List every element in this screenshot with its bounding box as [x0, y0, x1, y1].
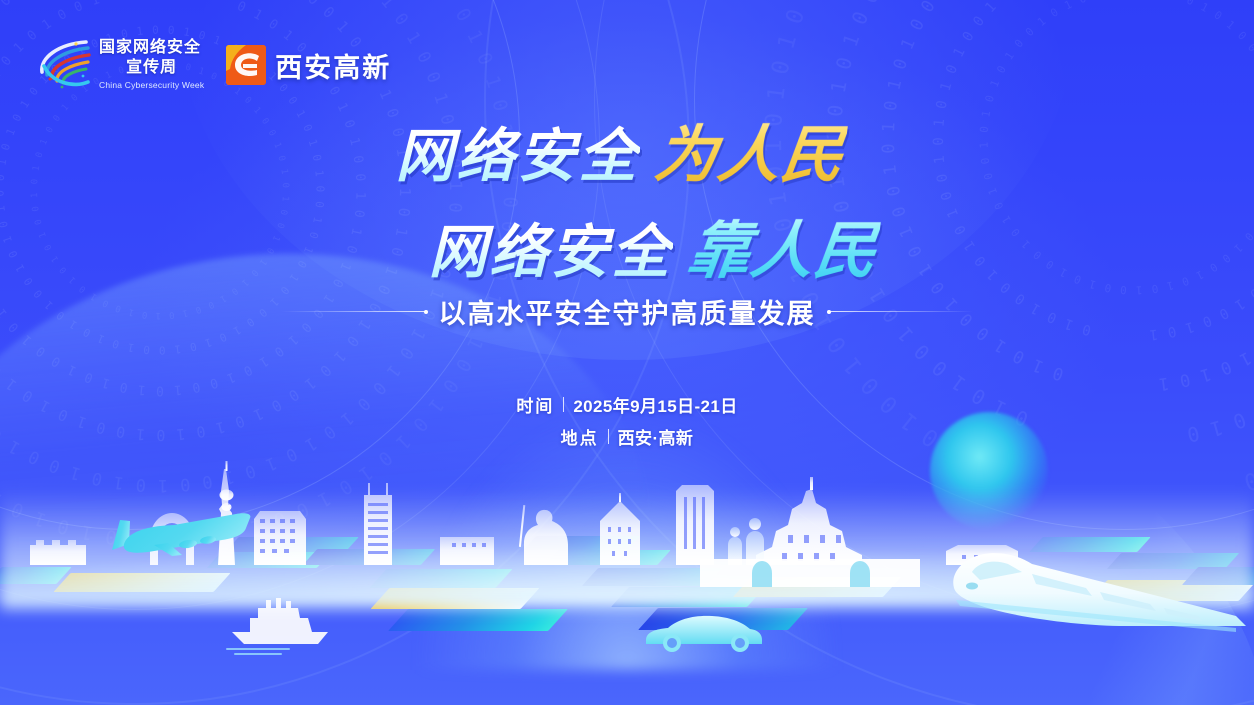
people-figures [728, 518, 764, 565]
subtitle-row: 以高水平安全守护高质量发展 [0, 292, 1254, 331]
time-value: 2025年9月15日-21日 [573, 392, 737, 417]
time-label: 时间 [516, 392, 554, 417]
meta-separator [563, 397, 564, 412]
high-speed-train-icon [936, 530, 1254, 645]
title-line2-white: 网络安全 [428, 205, 672, 289]
event-place-row: 地点 西安·高新 [0, 424, 1254, 449]
airplane-icon [96, 498, 261, 573]
title-line-1: 网络安全 为人民 [0, 104, 1254, 194]
place-label: 地点 [561, 424, 599, 449]
subtitle-rule-left [282, 311, 427, 312]
title-line1-white: 网络安全 [395, 109, 639, 193]
swoosh-ribbon-icon [36, 36, 92, 94]
title-line1-accent: 为人民 [650, 104, 850, 194]
cruise-ship-icon [222, 592, 362, 663]
meta-separator [608, 429, 609, 444]
car-icon [638, 608, 768, 659]
main-title-block: 网络安全 为人民 网络安全 靠人民 [0, 104, 1254, 290]
title-line2-accent: 靠人民 [683, 200, 883, 290]
header-logos: 国家网络安全 宣传周 China Cybersecurity Week 西安高新 [36, 36, 391, 94]
place-value: 西安·高新 [618, 424, 694, 449]
subtitle-rule-right [828, 311, 973, 312]
xian-hitech-name: 西安高新 [275, 46, 391, 85]
event-meta: 时间 2025年9月15日-21日 地点 西安·高新 [0, 392, 1254, 456]
xian-hitech-logo[interactable]: 西安高新 [226, 45, 391, 85]
subtitle-text: 以高水平安全守护高质量发展 [439, 292, 816, 331]
cybersecurity-week-logo[interactable]: 国家网络安全 宣传周 China Cybersecurity Week [36, 36, 204, 94]
title-line-2: 网络安全 靠人民 [52, 200, 1254, 290]
floor-tile [388, 609, 568, 631]
cw-logo-english: China Cybersecurity Week [99, 81, 204, 90]
promotional-banner: 0101001010100101010100101010010101010010… [0, 0, 1254, 705]
cw-logo-line1: 国家网络安全 [99, 40, 204, 56]
xian-hitech-mark-icon [226, 45, 266, 85]
event-time-row: 时间 2025年9月15日-21日 [0, 392, 1254, 417]
cw-logo-line2: 宣传周 [99, 60, 204, 76]
